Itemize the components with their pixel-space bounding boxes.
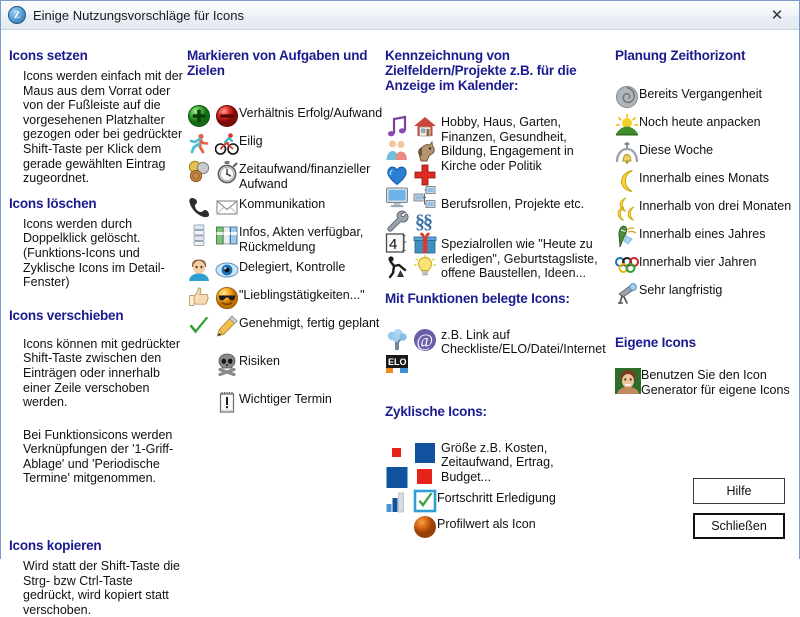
- telescope-icon: [615, 281, 639, 305]
- network-icon: [413, 185, 437, 209]
- document-stack-icon: [187, 223, 211, 247]
- bar-chart-icon: [385, 489, 409, 513]
- text-icons-loeschen: Icons werden durch Doppelklick gelöscht.…: [9, 217, 185, 290]
- list-item: Innerhalb vier Jahren: [615, 253, 795, 277]
- text-icons-kopieren: Wird statt der Shift-Taste die Strg- bzw…: [9, 559, 185, 617]
- text-icons-verschieben: Icons können mit gedrückter Shift-Taste …: [9, 337, 185, 410]
- list-item: Profilwert als Icon: [385, 515, 607, 539]
- list-item: Benutzen Sie den Icon Generator für eige…: [615, 368, 795, 397]
- pencil-icon: [215, 314, 239, 338]
- svg-text:4: 4: [389, 236, 397, 253]
- olympic-rings-icon: [615, 253, 639, 277]
- heading-icons-setzen: Icons setzen: [9, 48, 185, 63]
- three-moons-icon: [615, 197, 639, 221]
- heading-markieren: Markieren von Aufgaben und Zielen: [187, 48, 383, 78]
- elo-logo-icon: ELO: [385, 352, 409, 376]
- button-bar: Hilfe Schließen: [693, 478, 785, 548]
- music-note-icon: [385, 115, 409, 139]
- wrench-icon: [385, 209, 409, 233]
- heading-icons-loeschen: Icons löschen: [9, 196, 185, 211]
- list-item-label: Verhältnis Erfolg/Aufwand: [239, 104, 382, 121]
- list-item-label: Infos, Akten verfügbar, Rückmeldung: [239, 223, 383, 254]
- eye-icon: [215, 258, 239, 282]
- list-item-label: "Lieblingstätigkeiten...": [239, 286, 365, 303]
- dialog-window: Einige Nutzungsvorschläge für Icons ✕ Ic…: [0, 0, 800, 559]
- red-minus-ball-icon: [215, 104, 239, 128]
- column-kennzeichnung: Kennzeichnung von Zielfeldern/Projekte z…: [385, 30, 607, 541]
- list-item: Innerhalb eines Monats: [615, 169, 795, 193]
- close-icon[interactable]: ✕: [755, 1, 799, 28]
- spacer: [187, 390, 211, 414]
- list-item-label: Risiken: [239, 352, 280, 369]
- list-item-label: Wichtiger Termin: [239, 390, 332, 407]
- champagne-icon: [615, 225, 639, 249]
- dialog-content: Icons setzen Icons werden einfach mit de…: [1, 30, 799, 560]
- coins-icon: [187, 160, 211, 184]
- list-item-label: Innerhalb vier Jahren: [639, 253, 756, 270]
- envelope-icon: [215, 195, 239, 219]
- crescent-moon-icon: [615, 169, 639, 193]
- list-item: Bereits Vergangenheit: [615, 85, 795, 109]
- list-item-label: Genehmigt, fertig geplant: [239, 314, 379, 331]
- heading-mit-funktionen: Mit Funktionen belegte Icons:: [385, 291, 607, 306]
- green-plus-ball-icon: [187, 104, 211, 128]
- window-title: Einige Nutzungsvorschläge für Icons: [33, 8, 244, 23]
- list-item: Noch heute anpacken: [615, 113, 795, 137]
- list-item-label: Diese Woche: [639, 141, 713, 158]
- list-item: Zeitaufwand/finanzieller Aufwand: [187, 160, 383, 191]
- column-markieren: Markieren von Aufgaben und Zielen Verhäl…: [187, 30, 383, 418]
- svg-text:@: @: [417, 330, 434, 350]
- red-cross-icon: [413, 163, 437, 187]
- list-item-label: Innerhalb eines Monats: [639, 169, 769, 186]
- family-icon: [385, 139, 409, 163]
- list-item-label: Delegiert, Kontrolle: [239, 258, 345, 275]
- checkbox-checked-icon: [413, 489, 437, 513]
- gift-icon: [413, 231, 437, 255]
- bell-icon: [615, 141, 639, 165]
- paragraph-section-icon: §§: [413, 209, 437, 233]
- list-item: 4 Spezialrollen wie "Heute zu erledigen"…: [385, 231, 607, 281]
- monitor-icon: [385, 185, 409, 209]
- at-sign-icon: @: [413, 328, 437, 352]
- person-icon: [187, 258, 211, 282]
- stopwatch-icon: [215, 160, 239, 184]
- cyclist-icon: [215, 132, 239, 156]
- list-item: Diese Woche: [615, 141, 795, 165]
- house-icon: [413, 115, 437, 139]
- list-item-label: Innerhalb eines Jahres: [639, 225, 765, 242]
- column-zeithorizont: Planung Zeithorizont Bereits Vergangenhe…: [615, 30, 795, 399]
- small-red-square-icon: [385, 441, 409, 465]
- spacer: [187, 352, 211, 376]
- list-item: Delegiert, Kontrolle: [187, 258, 383, 282]
- list-item-label: Berufsrollen, Projekte etc.: [441, 185, 584, 212]
- heading-planung-zeithorizont: Planung Zeithorizont: [615, 48, 795, 63]
- list-item-label: Fortschritt Erledigung: [437, 489, 556, 506]
- snail-shell-icon: [615, 85, 639, 109]
- list-item: @ ELO z.B. Link auf Checkliste/ELO/Datei…: [385, 328, 607, 376]
- heading-eigene-icons: Eigene Icons: [615, 335, 795, 350]
- list-item: Sehr langfristig: [615, 281, 795, 305]
- horse-icon: [413, 139, 437, 163]
- zeitplaner-icon: [8, 6, 26, 24]
- roadworks-icon: [385, 255, 409, 279]
- list-item-label: Bereits Vergangenheit: [639, 85, 762, 102]
- heading-icons-kopieren: Icons kopieren: [9, 538, 185, 553]
- heading-kennzeichnung: Kennzeichnung von Zielfeldern/Projekte z…: [385, 48, 607, 93]
- sunglasses-smiley-icon: [215, 286, 239, 310]
- list-item: Hobby, Haus, Garten, Finanzen, Gesundhei…: [385, 115, 607, 187]
- svg-text:ELO: ELO: [388, 357, 407, 367]
- large-blue-square-icon: [413, 441, 437, 465]
- list-item-label: Spezialrollen wie "Heute zu erledigen", …: [441, 231, 607, 281]
- list-item: Größe z.B. Kosten, Zeitaufwand, Ertrag, …: [385, 441, 607, 489]
- large-blue-square-icon: [385, 465, 409, 489]
- calendar-4-icon: 4: [385, 231, 409, 255]
- blue-heart-icon: [385, 163, 409, 187]
- svg-text:§: §: [423, 211, 433, 233]
- tree-icon: [385, 328, 409, 352]
- list-item: Eilig: [187, 132, 383, 156]
- telephone-icon: [187, 195, 211, 219]
- file-binders-icon: [215, 223, 239, 247]
- sunrise-icon: [615, 113, 639, 137]
- notepad-exclamation-icon: [215, 390, 239, 414]
- skull-icon: [215, 352, 239, 376]
- orange-circle-icon: [413, 515, 437, 539]
- spacer: [385, 515, 409, 539]
- list-item-label: Benutzen Sie den Icon Generator für eige…: [641, 368, 795, 397]
- heading-zyklische-icons: Zyklische Icons:: [385, 404, 607, 419]
- list-item-label: Zeitaufwand/finanzieller Aufwand: [239, 160, 383, 191]
- list-item-label: Hobby, Haus, Garten, Finanzen, Gesundhei…: [441, 115, 607, 173]
- runner-icon: [187, 132, 211, 156]
- column-instructions: Icons setzen Icons werden einfach mit de…: [9, 30, 185, 617]
- list-item-label: z.B. Link auf Checkliste/ELO/Datei/Inter…: [441, 328, 607, 357]
- list-item-label: Kommunikation: [239, 195, 325, 212]
- list-item: Innerhalb von drei Monaten: [615, 197, 795, 221]
- list-item: Infos, Akten verfügbar, Rückmeldung: [187, 223, 383, 254]
- list-item-label: Sehr langfristig: [639, 281, 722, 298]
- thumbs-up-icon: [187, 286, 211, 310]
- heading-icons-verschieben: Icons verschieben: [9, 308, 185, 323]
- list-item-label: Profilwert als Icon: [437, 515, 536, 532]
- list-item: Fortschritt Erledigung: [385, 489, 607, 513]
- list-item: Innerhalb eines Jahres: [615, 225, 795, 249]
- list-item: Kommunikation: [187, 195, 383, 219]
- close-button[interactable]: Schließen: [693, 513, 785, 539]
- title-bar: Einige Nutzungsvorschläge für Icons ✕: [1, 1, 799, 30]
- portrait-photo-icon: [615, 368, 641, 394]
- list-item-label: Größe z.B. Kosten, Zeitaufwand, Ertrag, …: [441, 441, 607, 485]
- list-item-label: Innerhalb von drei Monaten: [639, 197, 791, 214]
- help-button[interactable]: Hilfe: [693, 478, 785, 504]
- text-icons-setzen: Icons werden einfach mit der Maus aus de…: [9, 69, 185, 186]
- list-item: "Lieblingstätigkeiten...": [187, 286, 383, 310]
- list-item-label: Eilig: [239, 132, 263, 149]
- list-item: Verhältnis Erfolg/Aufwand: [187, 104, 383, 128]
- list-item: §§ Berufsrollen, Projekte etc.: [385, 185, 607, 233]
- lightbulb-icon: [413, 255, 437, 279]
- green-check-icon: [187, 314, 211, 338]
- text-funktionsicons: Bei Funktionsicons werden Verknüpfungen …: [9, 428, 185, 486]
- list-item-label: Noch heute anpacken: [639, 113, 761, 130]
- list-item: Wichtiger Termin: [187, 390, 383, 414]
- list-item: Genehmigt, fertig geplant: [187, 314, 383, 338]
- medium-red-square-icon: [413, 465, 437, 489]
- list-item: Risiken: [187, 352, 383, 376]
